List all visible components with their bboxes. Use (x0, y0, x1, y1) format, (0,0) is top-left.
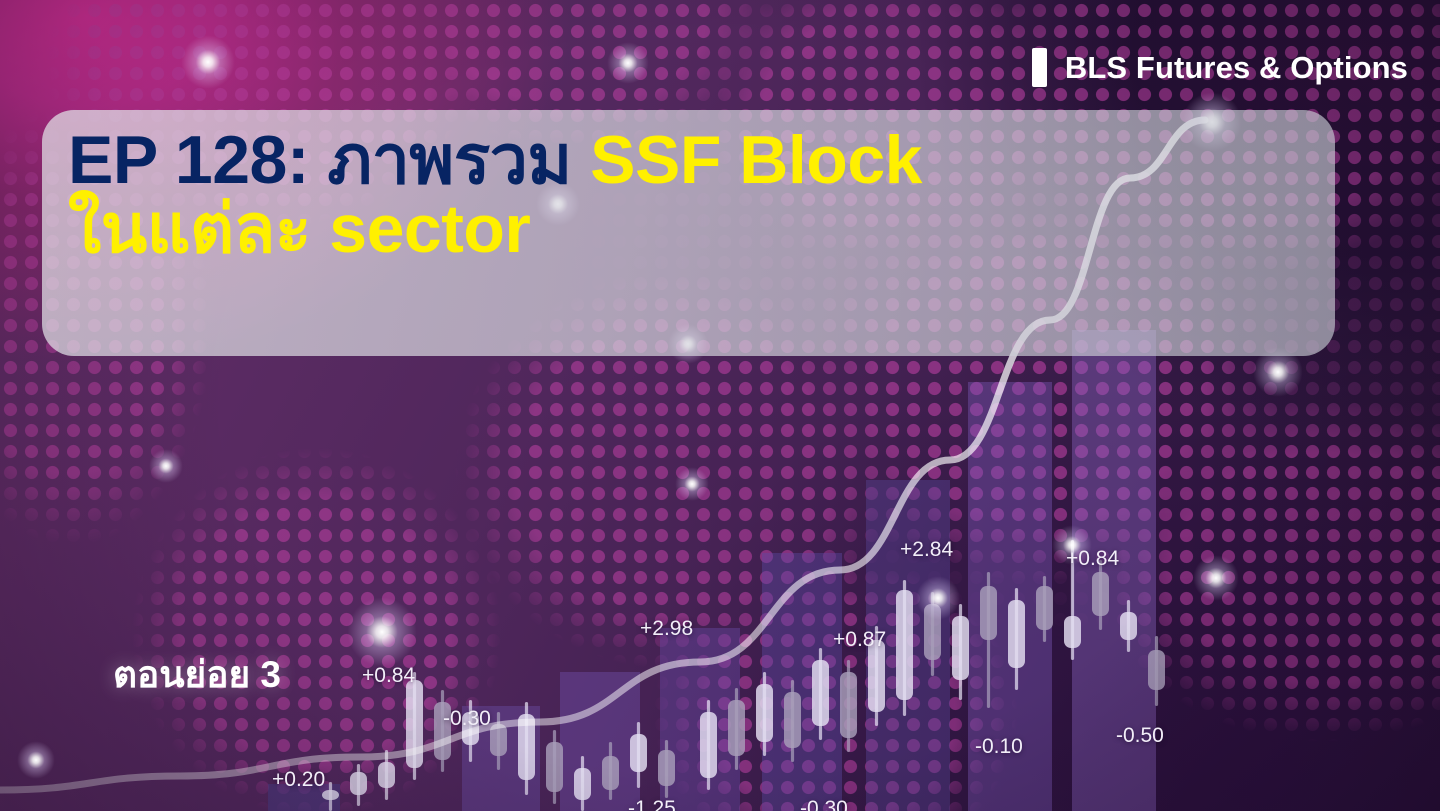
title-line-2: ในแต่ละ sector (68, 195, 1318, 264)
subepisode-label: ตอนย่อย 3 (113, 645, 281, 704)
chart-value-label: +0.87 (833, 628, 886, 652)
title-line-1: EP 128: ภาพรวม SSF Block (68, 126, 1318, 195)
title-block: EP 128: ภาพรวม SSF Block ในแต่ละ sector (68, 126, 1318, 265)
chart-value-label: +2.84 (900, 538, 953, 562)
chart-value-label: +0.84 (362, 664, 415, 688)
chart-value-label: +2.98 (640, 617, 693, 641)
chart-value-label: -0.50 (1116, 724, 1164, 748)
title-episode-text: EP 128: ภาพรวม (68, 122, 572, 198)
chart-value-label: +0.20 (272, 768, 325, 792)
title-ssf-block-text: SSF Block (590, 122, 922, 198)
chart-value-label: -1.25 (628, 797, 676, 811)
brand-header: BLS Futures & Options (1032, 48, 1408, 87)
chart-value-label: +0.84 (1066, 547, 1119, 571)
title-sector-text: ในแต่ละ sector (68, 191, 530, 267)
poster-canvas: +0.20+0.84-0.30-1.25+2.98-0.30+0.87+2.84… (0, 0, 1440, 811)
chart-value-label: -0.10 (975, 735, 1023, 759)
brand-bar-icon (1032, 48, 1047, 87)
chart-value-label: -0.30 (443, 707, 491, 731)
chart-value-label: -0.30 (800, 797, 848, 811)
brand-name: BLS Futures & Options (1065, 50, 1408, 86)
